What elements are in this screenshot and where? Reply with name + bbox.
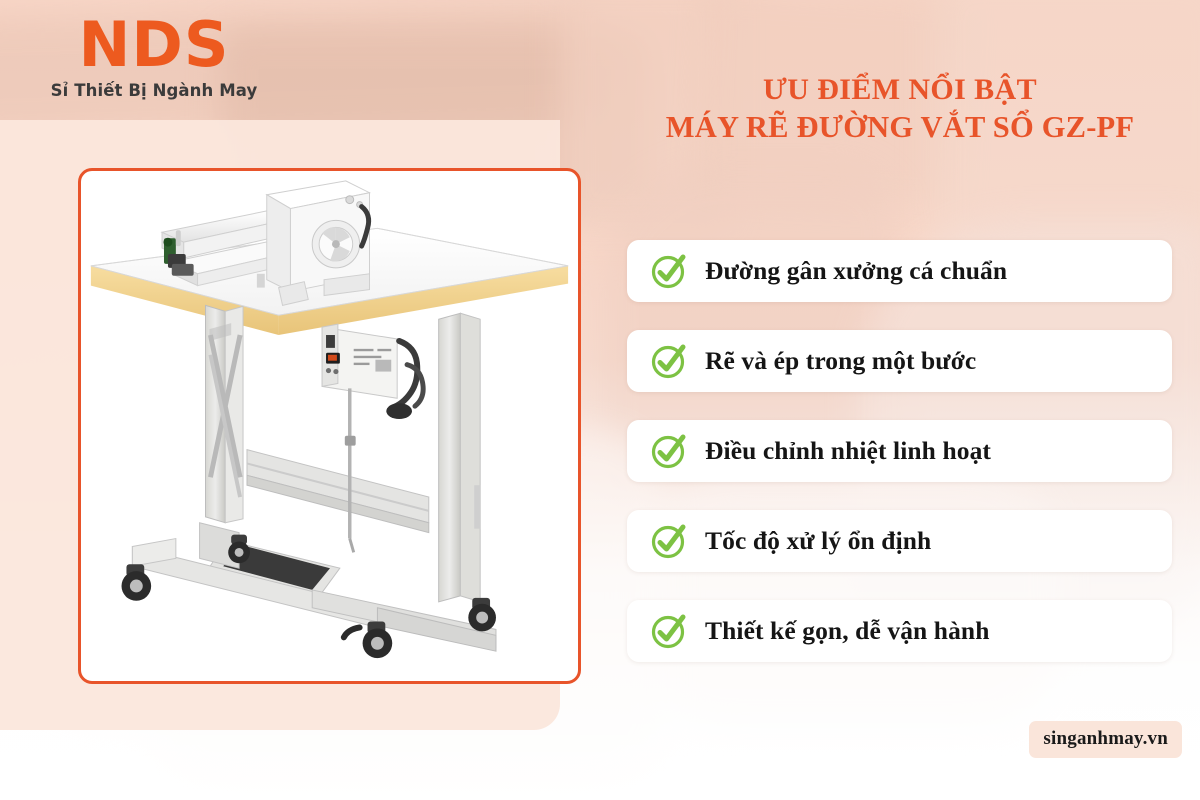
list-item-label: Thiết kế gọn, dễ vận hành	[705, 616, 990, 646]
list-item-label: Điều chỉnh nhiệt linh hoạt	[705, 436, 991, 466]
list-item-label: Rẽ và ép trong một bước	[705, 346, 976, 376]
list-item[interactable]: Thiết kế gọn, dễ vận hành	[627, 600, 1172, 662]
product-image-card	[78, 168, 581, 684]
page-title-line-1: ƯU ĐIỂM NỔI BẬT	[600, 72, 1200, 109]
check-circle-icon	[649, 611, 689, 651]
check-circle-icon	[649, 521, 689, 561]
list-item[interactable]: Đường gân xưởng cá chuẩn	[627, 240, 1172, 302]
website-badge[interactable]: singanhmay.vn	[1029, 721, 1182, 758]
check-circle-icon	[649, 431, 689, 471]
check-circle-icon	[649, 251, 689, 291]
page-title: ƯU ĐIỂM NỔI BẬT MÁY RẼ ĐƯỜNG VẮT SỔ GZ-P…	[600, 72, 1200, 146]
brand-logo-mark: NDS	[14, 16, 294, 75]
list-item[interactable]: Điều chỉnh nhiệt linh hoạt	[627, 420, 1172, 482]
feature-list: Đường gân xưởng cá chuẩn Rẽ và ép trong …	[627, 240, 1172, 662]
page-title-line-2: MÁY RẼ ĐƯỜNG VẮT SỔ GZ-PF	[600, 109, 1200, 146]
list-item-label: Tốc độ xử lý ổn định	[705, 526, 931, 556]
list-item[interactable]: Rẽ và ép trong một bước	[627, 330, 1172, 392]
check-circle-icon	[649, 341, 689, 381]
brand-tagline: Sỉ Thiết Bị Ngành May	[14, 81, 294, 100]
poster-canvas: NDS Sỉ Thiết Bị Ngành May ƯU ĐIỂM NỔI BẬ…	[0, 0, 1200, 800]
list-item-label: Đường gân xưởng cá chuẩn	[705, 256, 1007, 286]
brand-logo: NDS Sỉ Thiết Bị Ngành May	[14, 16, 294, 100]
sewing-machine-illustration	[81, 171, 578, 681]
list-item[interactable]: Tốc độ xử lý ổn định	[627, 510, 1172, 572]
